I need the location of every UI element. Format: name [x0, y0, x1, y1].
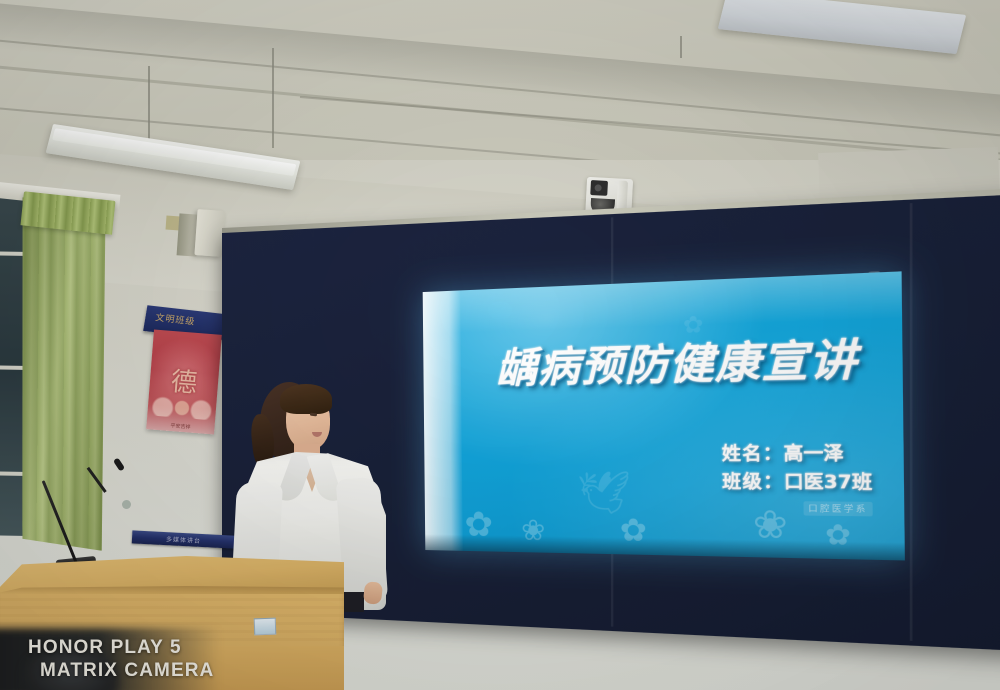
- slide-edge-washout: [423, 290, 463, 550]
- slide-class-label: 班级：: [722, 472, 784, 494]
- wall-sign-text: 文明班级: [155, 310, 197, 327]
- camera-lens: [590, 180, 608, 196]
- presenter-bangs: [280, 384, 332, 414]
- slide-footnote: 口腔医学系: [803, 501, 872, 516]
- curtain-shading: [13, 197, 114, 551]
- light-hanger: [272, 48, 274, 148]
- wall-poster: 德 平安吉祥: [146, 329, 222, 434]
- wall-outlet-icon: [122, 500, 131, 509]
- wall-speaker-icon: [194, 209, 225, 257]
- slide-class-row: 班级：口医37班: [722, 469, 873, 499]
- poster-figures: [151, 394, 213, 421]
- watermark-line-2: MATRIX CAMERA: [40, 659, 214, 682]
- classroom-photo: 文明班级 德 平安吉祥 ✿ 🕊 ✿ ❀ ✿ ❀ ✿ 龋病预防健康宣讲 姓名：高一…: [0, 0, 1000, 690]
- desk-name-plate-text: 多媒体讲台: [166, 534, 201, 545]
- slide-meta-block: 姓名：高一泽 班级：口医37班: [722, 440, 873, 499]
- watermark-line-1: HONOR PLAY 5: [28, 636, 214, 659]
- slide-name-row: 姓名：高一泽: [722, 440, 873, 469]
- slide-title: 龋病预防健康宣讲: [475, 323, 884, 395]
- blackboard-seam: [910, 203, 913, 641]
- presenter-eye: [310, 413, 317, 417]
- slide-name-label: 姓名：: [722, 443, 784, 465]
- slide-name-value: 高一泽: [783, 443, 843, 465]
- podium-label-tag: [254, 618, 277, 636]
- projected-slide: ✿ 🕊 ✿ ❀ ✿ ❀ ✿ 龋病预防健康宣讲 姓名：高一泽 班级：口医37班 口…: [423, 271, 905, 560]
- camera-watermark: HONOR PLAY 5 MATRIX CAMERA: [28, 636, 214, 682]
- slide-class-value: 口医37班: [784, 472, 873, 494]
- light-hanger: [680, 36, 682, 58]
